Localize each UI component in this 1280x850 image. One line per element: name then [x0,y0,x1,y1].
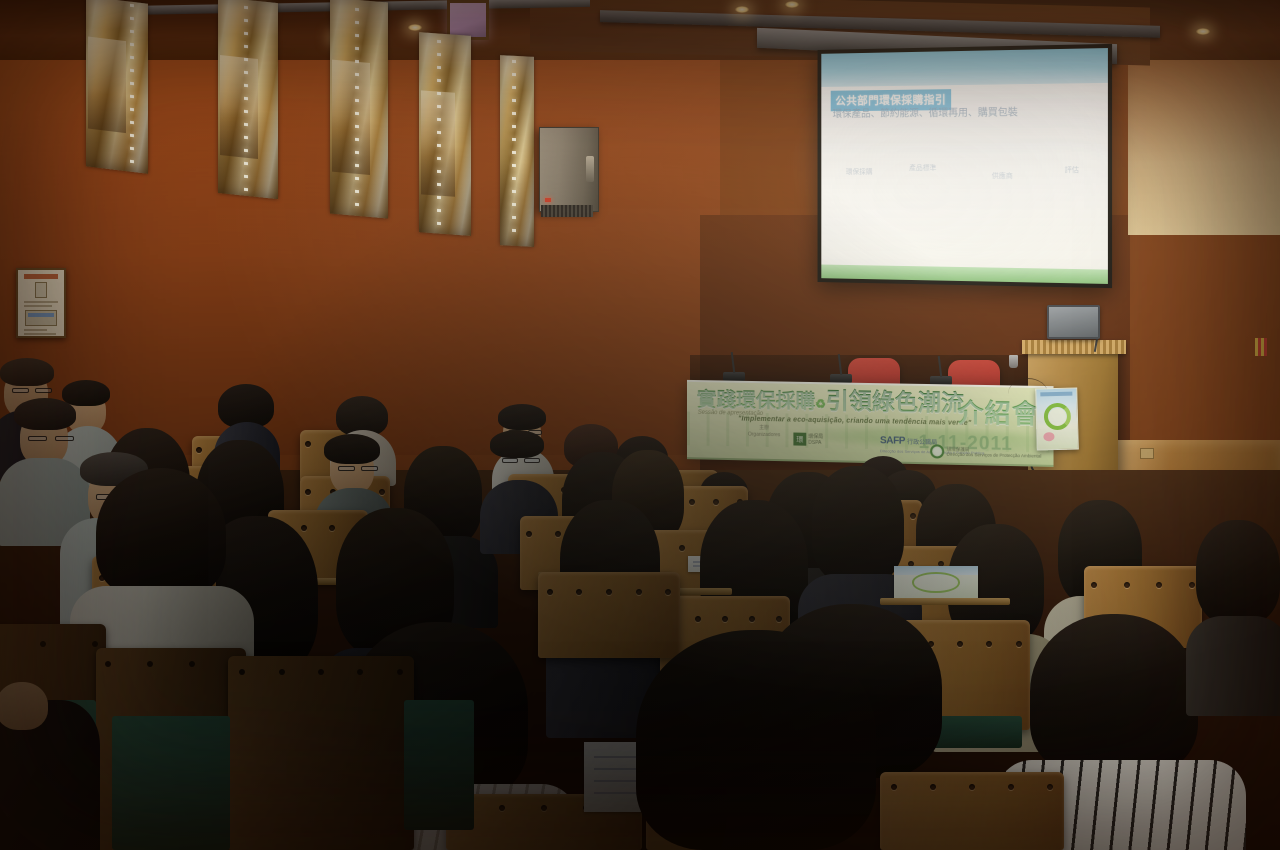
auditorium-chair[interactable] [538,572,680,658]
reflected-light-string [244,6,248,192]
banner-organiser-label: 主辦 Organizadores [748,425,780,440]
reflected-light-string [512,60,516,242]
ceiling-downlight [735,6,749,13]
auditorium-chair[interactable] [880,772,1064,850]
organiser-label-pt: Organizadores [748,432,780,439]
slide-subtitle: 環保產品、節約能源、循環再用、購買包裝 [833,106,1100,121]
notice-line [24,329,47,331]
reflective-gold-panel [86,0,148,174]
reflected-light-string [437,40,441,230]
drinking-glass [1009,355,1018,368]
dspa-logo-mark: 環 [793,433,806,446]
notice-icon [35,282,47,298]
upper-cream-wall [1128,30,1280,235]
banner-title-part2: 引領綠色潮流 [826,387,964,416]
lectern-top-slats [1022,340,1126,354]
slide-faint-text: 環保採購 [846,167,873,177]
event-banner: 實踐環保採購♻引領綠色潮流 Sessão de apresentação "Im… [687,380,1054,467]
notice-box [25,310,57,326]
reflective-gold-panel [419,32,471,236]
wall-outlet-plate [1140,448,1154,459]
eco-poster-flower [1043,432,1054,441]
ambiental-logo-text: 環境保護局 Direcção dos Serviços de Protecção… [947,446,1042,459]
eco-poster [1035,387,1079,450]
slide-faint-text: 產品標準 [909,163,936,173]
ceiling-downlight [785,1,799,8]
notice-title-bar [24,274,58,279]
banner-logo-dspa: 環 環保局 DSPA [793,433,823,447]
slide-header-band [821,48,1108,87]
recycle-icon: ♻ [815,397,826,411]
reflected-light-string [130,4,134,164]
notice-line [24,333,56,335]
loudspeaker-led-icon [545,198,551,202]
organiser-label-cn: 主辦 [759,425,769,431]
notice-line [24,305,52,307]
chair-writing-tablet [880,598,1010,605]
auditorium-chair[interactable] [228,656,414,850]
ceiling-downlight [1196,28,1210,35]
auditorium-photo: 公共部門環保採購指引 環保產品、節約能源、循環再用、購買包裝 環保採購 產品標準… [0,0,1280,850]
table-flag [1255,338,1267,356]
safp-acronym: SAFP [880,435,905,447]
notice-line [24,301,58,303]
slide-faint-text: 供應商 [992,171,1013,181]
chair-seat-cushion [112,716,230,850]
slide-footer-band [821,265,1108,284]
wall-notice-frame [16,268,66,338]
banner-title-intro: 介紹會 [957,393,1039,432]
projection-screen-frame: 公共部門環保採購指引 環保產品、節約能源、循環再用、購買包裝 環保採購 產品標準… [818,44,1113,288]
banner-logo-ambiental: 環境保護局 Direcção dos Serviços de Protecção… [931,444,1042,460]
chair-seat-cushion [404,700,474,830]
eco-poster-header [1040,392,1072,397]
slide-faint-text: 評估 [1065,165,1079,175]
presenter-laptop [1047,305,1100,339]
eco-ring-icon [931,444,945,458]
reflective-gold-panel [500,55,534,247]
reflective-gold-panel [330,0,388,219]
projection-screen-surface: 公共部門環保採購指引 環保產品、節約能源、循環再用、購買包裝 環保採購 產品標準… [821,48,1108,284]
reflective-gold-panel [218,0,278,199]
reflected-light-string [355,8,359,214]
dspa-logo-text: 環保局 DSPA [808,433,823,445]
loudspeaker-grille [541,205,593,217]
handout-booklet [894,566,978,600]
ceiling-downlight [408,24,422,31]
